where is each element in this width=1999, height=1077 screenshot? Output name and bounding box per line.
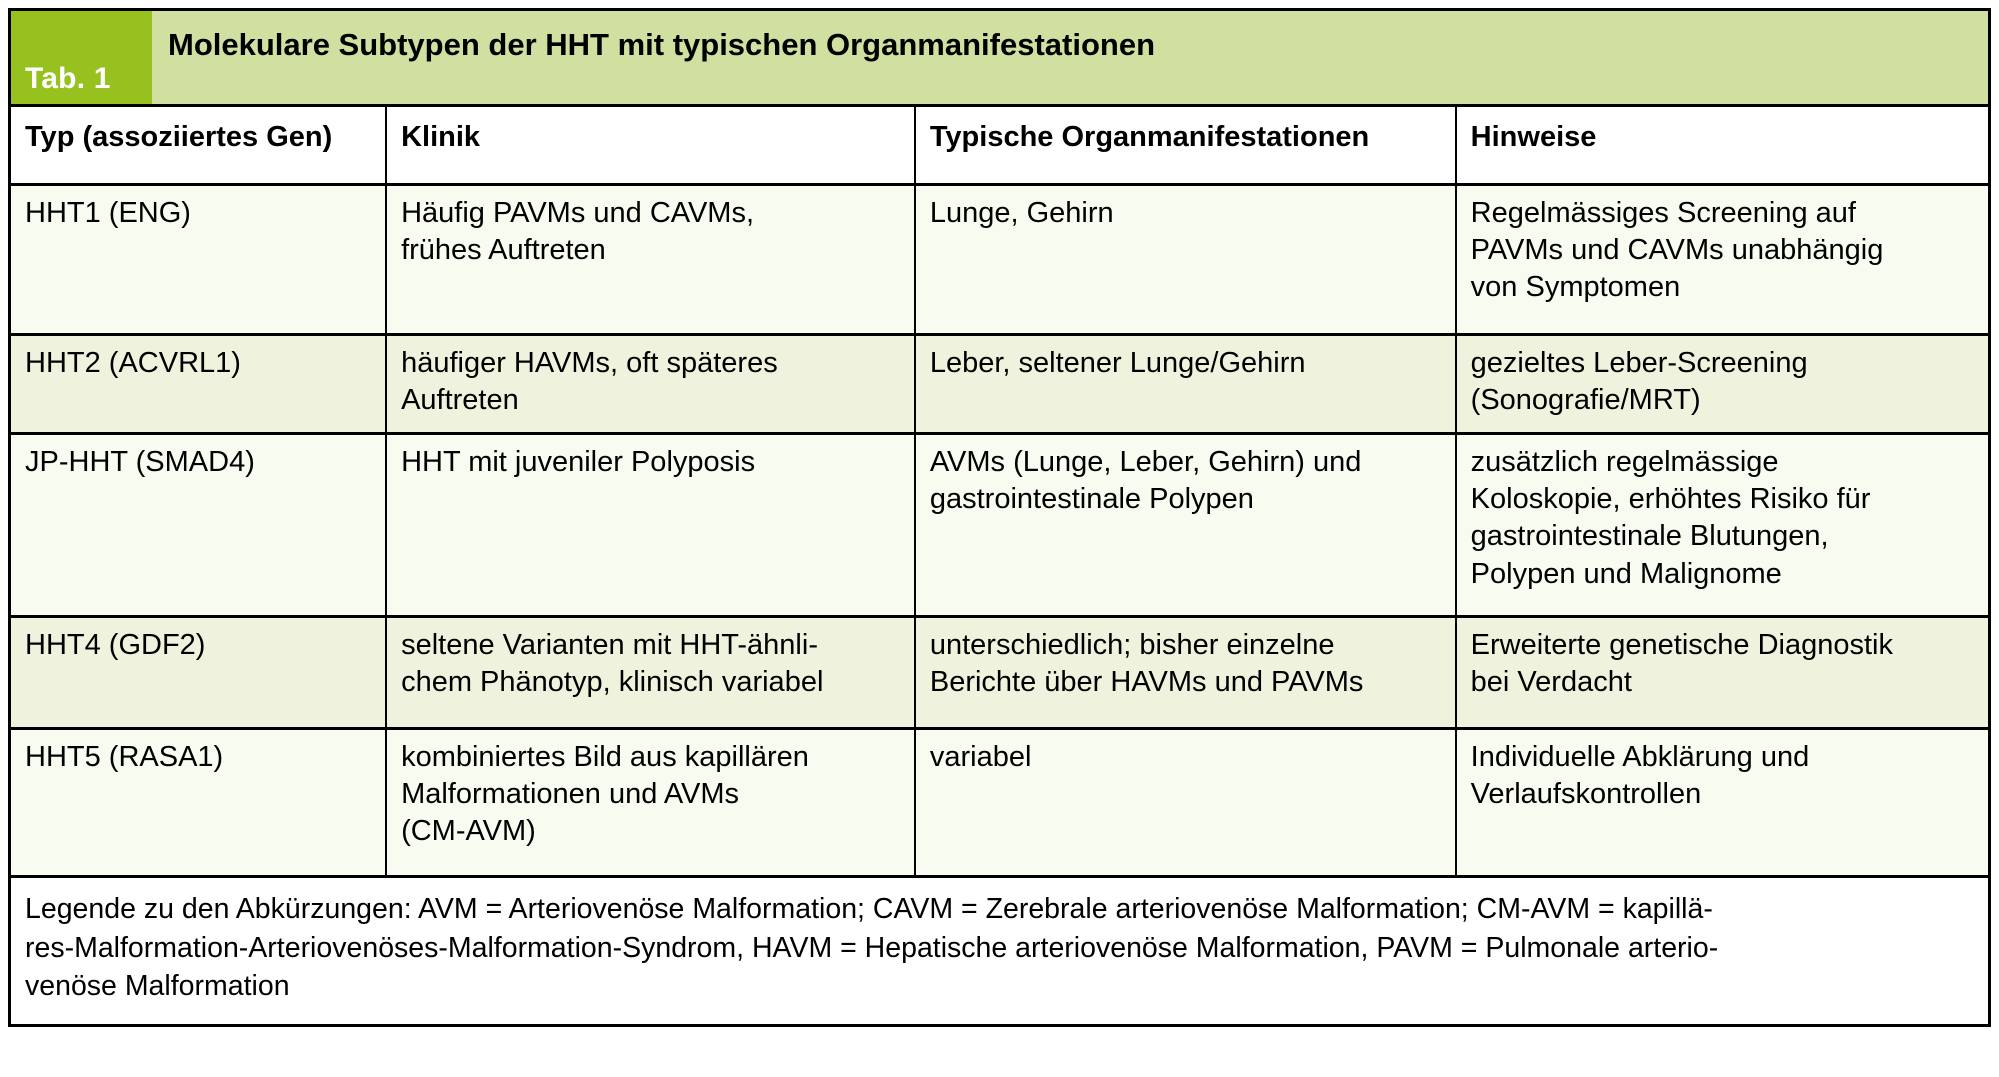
table-row: HHT1 (ENG) Häufig PAVMs und CAVMs, frühe… [10, 185, 1990, 335]
table-number-label: Tab. 1 [25, 62, 111, 96]
cell-hinweise: gezieltes Leber-Screening (Sonografie/MR… [1456, 335, 1990, 434]
cell-text: HHT mit juveniler Polyposis [401, 444, 902, 481]
cell-hinweise: Erweiterte genetische Diagnostik bei Ver… [1456, 617, 1990, 729]
cell-hinweise: Individuelle Abklärung und Verlaufskontr… [1456, 729, 1990, 877]
cell-typ: HHT5 (RASA1) [10, 729, 387, 877]
column-header-typ: Typ (assoziiertes Gen) [10, 106, 387, 185]
cell-text: HHT2 (ACVRL1) [25, 345, 373, 382]
cell-organ: variabel [915, 729, 1456, 877]
cell-text: gastrointestinale Polypen [930, 481, 1443, 518]
table-header-row: Typ (assoziiertes Gen) Klinik Typische O… [10, 106, 1990, 185]
cell-text: HHT4 (GDF2) [25, 627, 373, 664]
table-legend-row: Legende zu den Abkürzungen: AVM = Arteri… [10, 877, 1990, 1025]
column-header-hinweise: Hinweise [1456, 106, 1990, 185]
column-header-klinik: Klinik [386, 106, 915, 185]
cell-organ: unterschiedlich; bisher einzelne Bericht… [915, 617, 1456, 729]
cell-text: Polypen und Malignome [1471, 556, 1976, 593]
cell-text: Individuelle Abklärung und [1471, 739, 1976, 776]
cell-hinweise: zusätzlich regelmässige Koloskopie, erhö… [1456, 434, 1990, 617]
table-header: Typ (assoziiertes Gen) Klinik Typische O… [10, 106, 1990, 185]
cell-text: gastrointestinale Blutungen, [1471, 518, 1976, 555]
cell-text: Erweiterte genetische Diagnostik [1471, 627, 1976, 664]
cell-text: PAVMs und CAVMs unabhängig [1471, 232, 1976, 269]
cell-text: JP-HHT (SMAD4) [25, 444, 373, 481]
cell-text: bei Verdacht [1471, 664, 1976, 701]
cell-text: von Symptomen [1471, 269, 1976, 306]
cell-text: HHT1 (ENG) [25, 195, 373, 232]
cell-klinik: häufiger HAVMs, oft späteres Auftreten [386, 335, 915, 434]
legend-text: res-Malformation-Arteriovenöses-Malforma… [25, 929, 1974, 967]
cell-text: Auftreten [401, 382, 902, 419]
cell-text: häufiger HAVMs, oft späteres [401, 345, 902, 382]
table-caption-band: Tab. 1 Molekulare Subtypen der HHT mit t… [8, 8, 1991, 104]
cell-text: Leber, seltener Lunge/Gehirn [930, 345, 1443, 382]
cell-klinik: Häufig PAVMs und CAVMs, frühes Auftreten [386, 185, 915, 335]
legend-text: venöse Malformation [25, 967, 1974, 1005]
table-number-badge: Tab. 1 [11, 11, 152, 104]
cell-text: unterschiedlich; bisher einzelne [930, 627, 1443, 664]
cell-text: frühes Auftreten [401, 232, 902, 269]
table-row: HHT5 (RASA1) kombiniertes Bild aus kapil… [10, 729, 1990, 877]
cell-text: Koloskopie, erhöhtes Risiko für [1471, 481, 1976, 518]
cell-text: Verlaufskontrollen [1471, 776, 1976, 813]
cell-text: zusätzlich regelmässige [1471, 444, 1976, 481]
cell-typ: HHT2 (ACVRL1) [10, 335, 387, 434]
cell-text: kombiniertes Bild aus kapillären [401, 739, 902, 776]
cell-text: gezieltes Leber-Screening [1471, 345, 1976, 382]
cell-organ: AVMs (Lunge, Leber, Gehirn) und gastroin… [915, 434, 1456, 617]
column-header-organmanifestationen: Typische Organmanifestationen [915, 106, 1456, 185]
cell-klinik: seltene Varianten mit HHT-ähnli- chem Ph… [386, 617, 915, 729]
cell-typ: HHT1 (ENG) [10, 185, 387, 335]
cell-klinik: kombiniertes Bild aus kapillären Malform… [386, 729, 915, 877]
cell-hinweise: Regelmässiges Screening auf PAVMs und CA… [1456, 185, 1990, 335]
cell-text: AVMs (Lunge, Leber, Gehirn) und [930, 444, 1443, 481]
subtypes-table: Typ (assoziiertes Gen) Klinik Typische O… [8, 104, 1991, 1027]
table-container: Tab. 1 Molekulare Subtypen der HHT mit t… [8, 8, 1991, 1027]
cell-typ: JP-HHT (SMAD4) [10, 434, 387, 617]
cell-organ: Leber, seltener Lunge/Gehirn [915, 335, 1456, 434]
table-body: HHT1 (ENG) Häufig PAVMs und CAVMs, frühe… [10, 185, 1990, 1026]
cell-text: seltene Varianten mit HHT-ähnli- [401, 627, 902, 664]
cell-text: chem Phänotyp, klinisch variabel [401, 664, 902, 701]
cell-text: (Sonografie/MRT) [1471, 382, 1976, 419]
table-row: HHT2 (ACVRL1) häufiger HAVMs, oft später… [10, 335, 1990, 434]
cell-legend: Legende zu den Abkürzungen: AVM = Arteri… [10, 877, 1990, 1025]
cell-text: Malformationen und AVMs [401, 776, 902, 813]
cell-text: (CM-AVM) [401, 813, 902, 850]
cell-text: variabel [930, 739, 1443, 776]
table-title: Molekulare Subtypen der HHT mit typische… [152, 11, 1988, 104]
legend-text: Legende zu den Abkürzungen: AVM = Arteri… [25, 890, 1974, 928]
cell-text: Regelmässiges Screening auf [1471, 195, 1976, 232]
cell-text: Berichte über HAVMs und PAVMs [930, 664, 1443, 701]
cell-klinik: HHT mit juveniler Polyposis [386, 434, 915, 617]
cell-organ: Lunge, Gehirn [915, 185, 1456, 335]
cell-text: Lunge, Gehirn [930, 195, 1443, 232]
table-row: JP-HHT (SMAD4) HHT mit juveniler Polypos… [10, 434, 1990, 617]
cell-text: HHT5 (RASA1) [25, 739, 373, 776]
table-row: HHT4 (GDF2) seltene Varianten mit HHT-äh… [10, 617, 1990, 729]
cell-typ: HHT4 (GDF2) [10, 617, 387, 729]
cell-text: Häufig PAVMs und CAVMs, [401, 195, 902, 232]
